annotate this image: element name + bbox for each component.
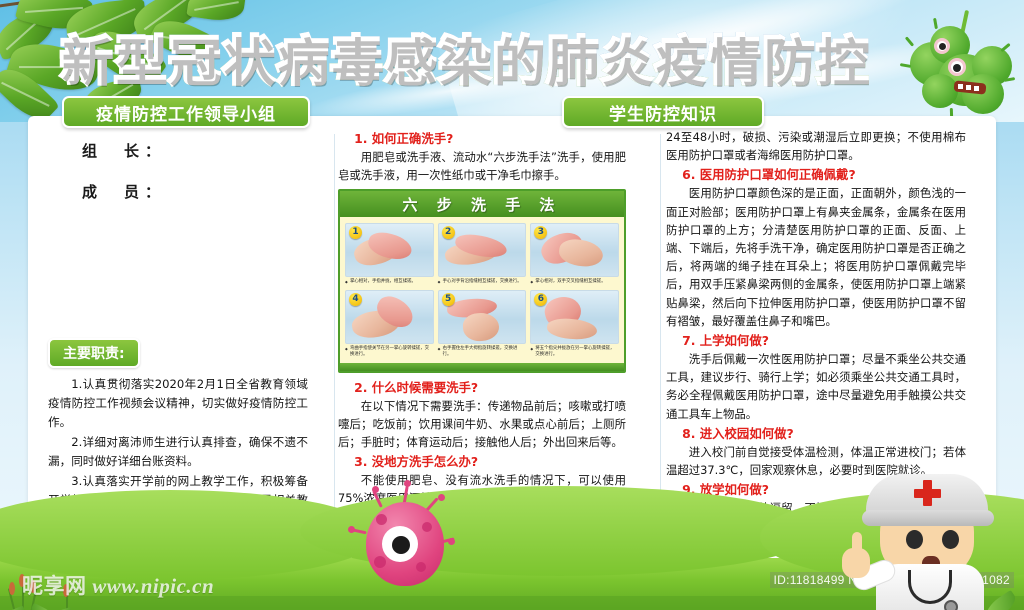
- question-heading: 3. 没地方洗手怎么办?: [338, 452, 626, 471]
- wash-chart-title: 六 步 洗 手 法: [340, 191, 624, 217]
- step-number: 5: [442, 293, 455, 306]
- step-number: 1: [349, 226, 362, 239]
- poster-title-wrap: 新型冠状病毒感染的肺炎疫情防控: [60, 30, 900, 96]
- question-body: 在以下情况下需要洗手：传递物品前后；咳嗽或打喷嚏后；吃饭前；饮用课间牛奶、水果或…: [338, 397, 626, 452]
- step-caption: 右手握住左手大拇指旋转揉搓，交换进行。: [438, 344, 527, 359]
- site-watermark-cn: 昵享网: [22, 574, 87, 598]
- wash-step: 2 手心对手背沿指缝相互揉搓，交换进行。: [438, 223, 527, 285]
- wash-step: 3 掌心相对，双手交叉指缝相互揉搓。: [530, 223, 619, 285]
- section-header-student-knowledge: 学生防控知识: [562, 96, 764, 128]
- wash-step: 5 右手握住左手大拇指旋转揉搓，交换进行。: [438, 290, 527, 359]
- step-number: 3: [534, 226, 547, 239]
- question-body: 用肥皂或洗手液、流动水“六步洗手法”洗手，使用肥皂或洗手液，用一次性纸巾或干净毛…: [338, 148, 626, 184]
- duty-item: 1.认真贯彻落实2020年2月1日全省教育领域疫情防控工作视频会议精神，切实做好…: [48, 375, 308, 432]
- question-heading: 2. 什么时候需要洗手?: [338, 378, 626, 397]
- duties-label: 主要职责:: [48, 338, 140, 368]
- step-caption: 掌心相对，双手交叉指缝相互揉搓。: [530, 277, 619, 285]
- question-heading: 8. 进入校园如何做?: [666, 424, 966, 443]
- step-caption: 弯曲手指使关节在另一掌心旋转揉搓，交换进行。: [345, 344, 434, 359]
- site-watermark-url: www.nipic.cn: [92, 574, 214, 598]
- mask-continuation-text: 24至48小时，破损、污染或潮湿后立即更换；不使用棉布医用防护口罩或者海绵医用防…: [666, 128, 966, 164]
- question-heading: 1. 如何正确洗手?: [338, 129, 626, 148]
- site-watermark: 昵享网 www.nipic.cn: [22, 570, 214, 600]
- question-heading: 6. 医用防护口罩如何正确佩戴?: [666, 165, 966, 184]
- column-divider: [334, 134, 335, 558]
- wash-step: 1 掌心相对，手指并拢，相互揉搓。: [345, 223, 434, 285]
- pink-virus-mascot-icon: [352, 492, 456, 596]
- question-heading: 7. 上学如何做?: [666, 331, 966, 350]
- wash-chart-footer: [340, 363, 624, 371]
- wash-step: 6 将五个指尖并拢放在另一掌心旋转揉搓，交换进行。: [530, 290, 619, 359]
- six-step-handwash-chart: 六 步 洗 手 法 1 掌心相对，手指并拢，相互揉搓。 2: [338, 189, 626, 372]
- step-caption: 手心对手背沿指缝相互揉搓，交换进行。: [438, 277, 527, 285]
- step-number: 6: [534, 293, 547, 306]
- step-caption: 将五个指尖并拢放在另一掌心旋转揉搓，交换进行。: [530, 344, 619, 359]
- roster-members: 成 员：: [82, 181, 308, 202]
- wash-step: 4 弯曲手指使关节在另一掌心旋转揉搓，交换进行。: [345, 290, 434, 359]
- step-caption: 掌心相对，手指并拢，相互揉搓。: [345, 277, 434, 285]
- roster-leader: 组 长：: [82, 140, 308, 161]
- poster-canvas: 新型冠状病毒感染的肺炎疫情防控 疫情防控工作领导小组 学生防控知识 组 长：: [0, 0, 1024, 610]
- section-header-leadership-group: 疫情防控工作领导小组: [62, 96, 310, 128]
- step-number: 2: [442, 226, 455, 239]
- page-title: 新型冠状病毒感染的肺炎疫情防控: [60, 30, 900, 94]
- question-body: 洗手后佩戴一次性医用防护口罩；尽量不乘坐公共交通工具，建议步行、骑行上学；如必须…: [666, 350, 966, 423]
- doctor-mascot-icon: [836, 460, 1006, 610]
- green-virus-mascot-icon: [904, 12, 1016, 122]
- duty-item: 2.详细对离沛师生进行认真排查，确保不遗不漏，同时做好详细台账资料。: [48, 433, 308, 471]
- step-number: 4: [349, 293, 362, 306]
- question-body: 医用防护口罩颜色深的是正面，正面朝外，颜色浅的一面正对脸部；医用防护口罩上有鼻夹…: [666, 184, 966, 330]
